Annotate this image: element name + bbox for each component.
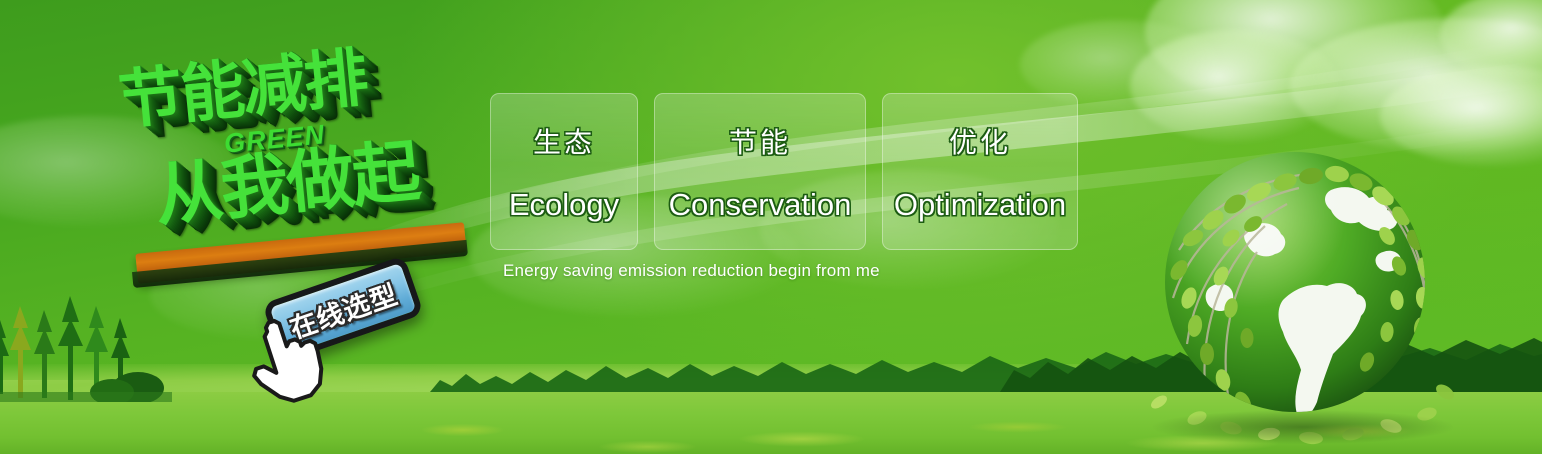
feature-card-cn-label: 优化: [949, 121, 1011, 161]
leafy-globe-illustration: [1135, 130, 1465, 450]
headline-3d-text: 节能减排 GREEN 从我做起: [96, 32, 516, 282]
leafy-globe-icon: [1135, 130, 1465, 450]
headline-base-shadow: [132, 240, 468, 288]
online-selection-label: 在线选型: [284, 272, 403, 345]
feature-card-optimization[interactable]: 优化 Optimization: [882, 93, 1078, 250]
feature-card-en-label: Conservation: [669, 187, 852, 223]
feature-card-list: 生态 Ecology 节能 Conservation 优化 Optimizati…: [490, 93, 1078, 250]
tagline-text: Energy saving emission reduction begin f…: [503, 261, 880, 281]
cloud-icon: [1145, 0, 1445, 106]
headline-base-plate: [135, 222, 466, 283]
headline-line-1: 节能减排: [114, 26, 370, 141]
cloud-icon: [1440, 0, 1542, 80]
feature-card-ecology[interactable]: 生态 Ecology: [490, 93, 638, 250]
feature-card-en-label: Optimization: [894, 187, 1066, 223]
eco-promo-banner: 节能减排 GREEN 从我做起 在线选型 生态 Ecology 节能 Conse…: [0, 0, 1542, 454]
cloud-icon: [0, 116, 240, 226]
feature-card-cn-label: 生态: [533, 121, 595, 161]
headline-line-2: 从我做起: [150, 116, 422, 240]
headline-accent-word: GREEN: [223, 119, 327, 160]
feature-card-en-label: Ecology: [509, 187, 619, 223]
feature-card-cn-label: 节能: [729, 121, 791, 161]
cloud-icon: [1130, 30, 1340, 142]
globe-ground-shadow: [1153, 410, 1453, 444]
online-selection-button[interactable]: 在线选型: [262, 255, 424, 362]
feature-card-conservation[interactable]: 节能 Conservation: [654, 93, 866, 250]
